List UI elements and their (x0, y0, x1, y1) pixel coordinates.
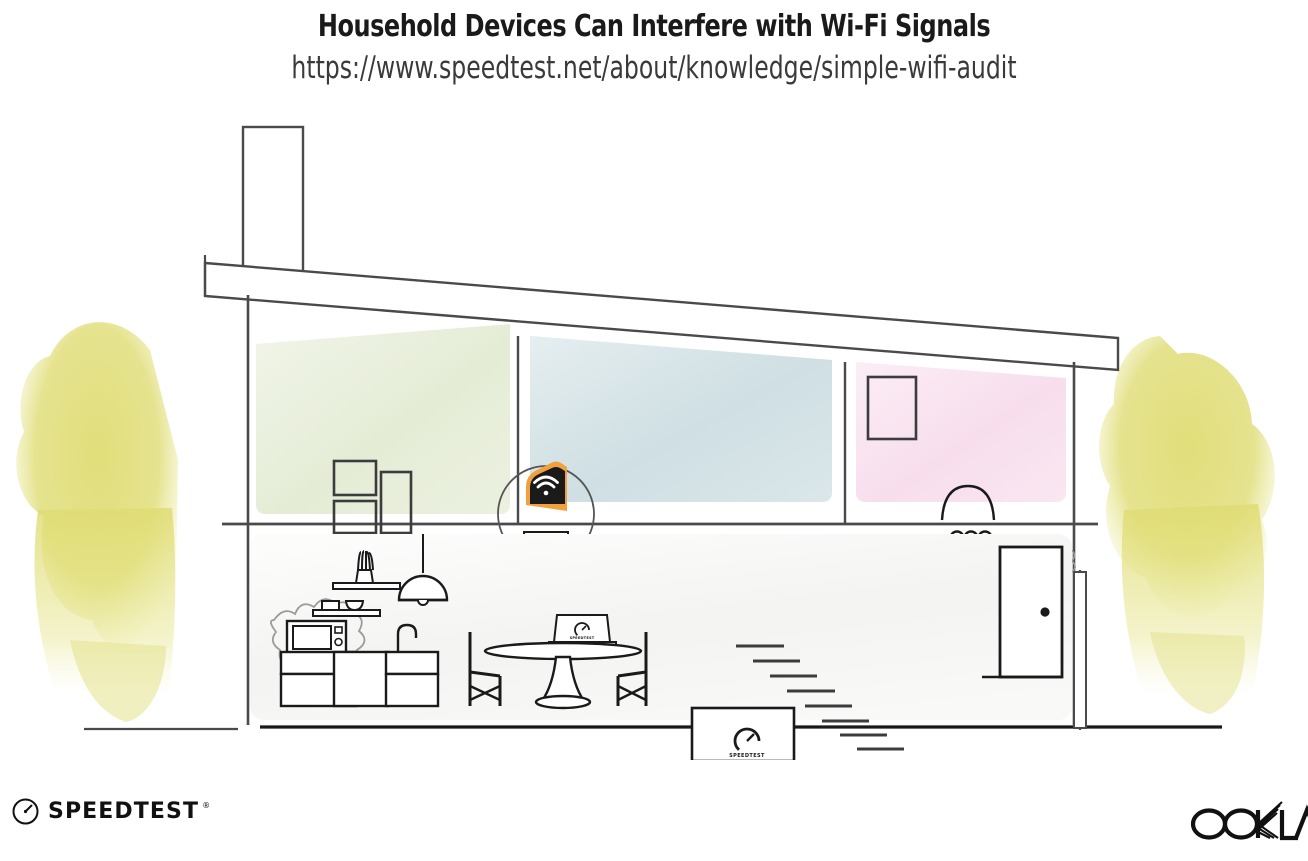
foliage-right (1099, 336, 1274, 714)
header: Household Devices Can Interfere with Wi-… (0, 0, 1308, 86)
speedtest-trademark: ® (202, 801, 210, 810)
laptop-label: SPEEDTEST (570, 636, 595, 640)
ookla-logo[interactable]: ® (1190, 798, 1308, 842)
source-url: https://www.speedtest.net/about/knowledg… (157, 44, 1151, 86)
gutter-pipe (1074, 572, 1086, 728)
table-foot (536, 696, 590, 708)
poster-root: Household Devices Can Interfere with Wi-… (0, 0, 1308, 861)
microwave-window (293, 626, 331, 649)
microwave-panel-top (335, 627, 342, 633)
foliage-left (16, 322, 178, 722)
house-illustration: SPEEDTEST (0, 100, 1308, 760)
laptop: SPEEDTEST (549, 615, 616, 646)
roof-structure (205, 127, 1118, 370)
tv-media-unit: SPEEDTEST (690, 708, 808, 760)
speedtest-logo[interactable]: SPEEDTEST ® (12, 798, 210, 825)
page-title: Household Devices Can Interfere with Wi-… (131, 0, 1177, 44)
shelf-bowl (346, 601, 363, 610)
chimney (243, 127, 303, 277)
shelf-box (322, 601, 339, 610)
speedtest-wordmark: SPEEDTEST (48, 799, 199, 824)
footer: SPEEDTEST ® (0, 770, 1308, 861)
speedtest-gauge-icon (12, 798, 39, 825)
tv-label: SPEEDTEST (729, 753, 765, 759)
ookla-wordmark-icon: ® (1190, 798, 1308, 842)
